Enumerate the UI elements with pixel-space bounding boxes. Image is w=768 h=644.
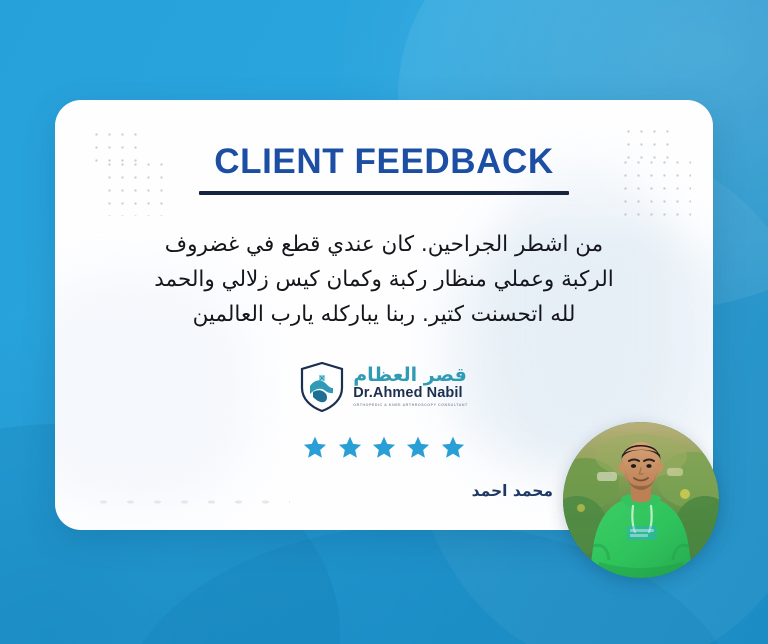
page-title: CLIENT FEEDBACK: [55, 144, 713, 195]
shield-bone-logo-icon: [300, 362, 344, 412]
avatar: [563, 422, 719, 578]
clinic-name-english: Dr.Ahmed Nabil: [353, 386, 462, 402]
star-icon: [338, 436, 362, 464]
star-icon: [372, 436, 396, 464]
reviewer-name: محمد احمد: [472, 482, 553, 500]
dot-row-icon: [90, 496, 290, 508]
clinic-tagline: ORTHOPEDIC & KNEE ARTHROSCOPY CONSULTANT: [353, 403, 468, 408]
star-icon: [406, 436, 430, 464]
clinic-logo-text: قصر العظام Dr.Ahmed Nabil ORTHOPEDIC & K…: [353, 366, 468, 408]
clinic-name-arabic: قصر العظام: [353, 366, 467, 386]
page-title-text: CLIENT FEEDBACK: [214, 144, 554, 179]
star-icon: [441, 436, 465, 464]
star-icon: [303, 436, 327, 464]
testimonial-text: من اشطر الجراحين. كان عندي قطع في غضروف …: [125, 228, 643, 332]
clinic-logo: قصر العظام Dr.Ahmed Nabil ORTHOPEDIC & K…: [55, 362, 713, 412]
testimonial-stage: CLIENT FEEDBACK من اشطر الجراحين. كان عن…: [0, 0, 768, 644]
title-underline: [199, 191, 569, 195]
